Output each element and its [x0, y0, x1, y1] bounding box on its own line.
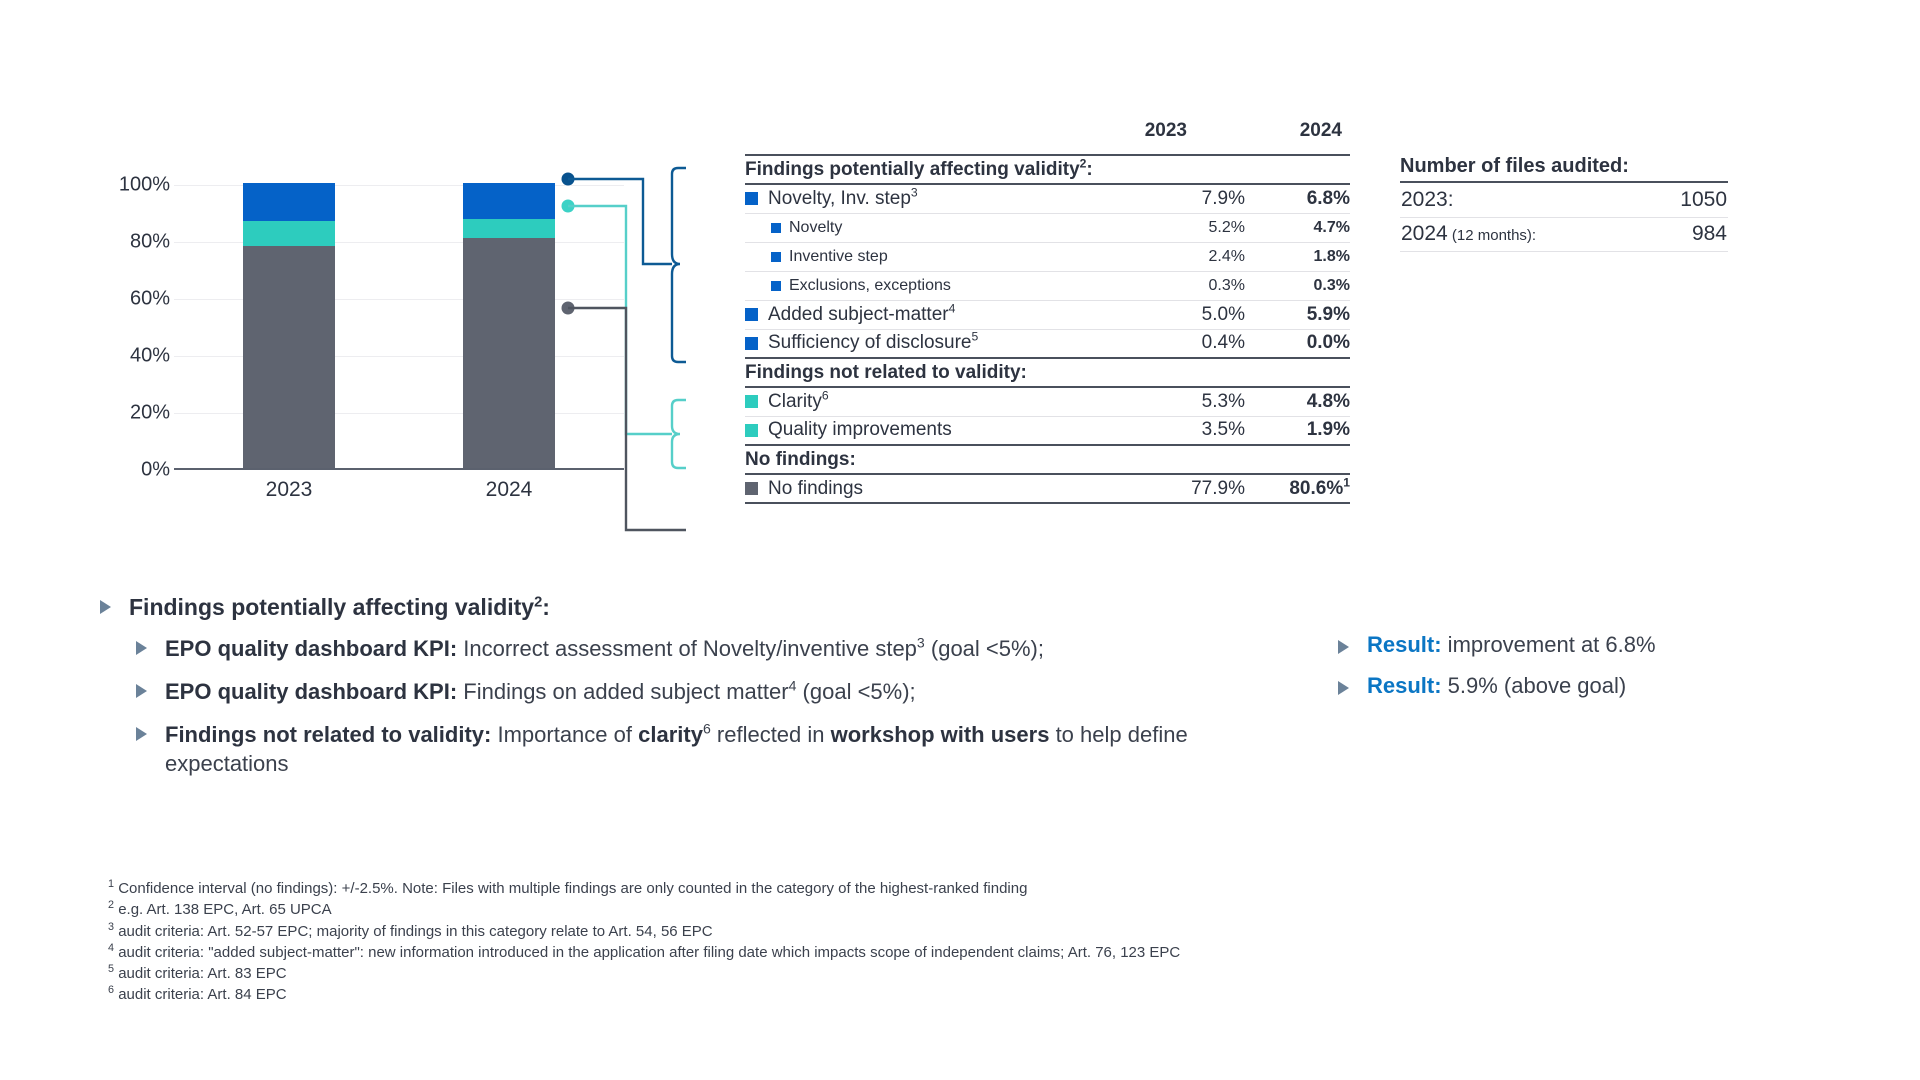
table-section-header: Findings potentially affecting validity2…	[745, 155, 1350, 184]
findings-table: 2023 2024 Findings potentially affecting…	[745, 120, 1350, 504]
footnote-text: Confidence interval (no findings): +/-2.…	[118, 880, 1027, 897]
table-cell-2023: 0.3%	[1140, 271, 1245, 300]
legend-swatch-icon	[745, 395, 758, 408]
bullet-item-lead: EPO quality dashboard KPI:	[165, 679, 457, 704]
gridline	[174, 185, 624, 186]
files-audited-value: 1050	[1564, 183, 1728, 217]
files-audited-title: Number of files audited:	[1400, 155, 1728, 181]
bullet-item: EPO quality dashboard KPI: Incorrect ass…	[136, 634, 1280, 663]
gridline	[174, 242, 624, 243]
legend-swatch-icon	[745, 192, 758, 205]
footnote-text: audit criteria: Art. 52-57 EPC; majority…	[118, 923, 712, 940]
table-row: Added subject-matter45.0%5.9%	[745, 300, 1350, 329]
row-label-text: Clarity6	[768, 391, 829, 413]
bar-segment-2023-findings-not-related-to-validity	[243, 221, 335, 246]
footnote-marker: 5	[108, 963, 114, 975]
table-cell-label: No findings	[745, 474, 1140, 503]
table-cell-2024: 0.0%	[1245, 329, 1350, 358]
row-label: Quality improvements	[745, 419, 1140, 441]
bullet-item-lead: EPO quality dashboard KPI:	[165, 636, 457, 661]
y-axis-labels: 0%20%40%60%80%100%	[92, 185, 170, 470]
connector-line-teal	[568, 206, 672, 434]
footnote-text: audit criteria: "added subject-matter": …	[118, 944, 1180, 961]
table-cell-2023: 5.3%	[1140, 387, 1245, 416]
files-audited-label: 2024 (12 months):	[1400, 217, 1564, 251]
files-audited-row: 2023:1050	[1400, 183, 1728, 217]
legend-swatch-icon	[745, 337, 758, 350]
result-lead: Result:	[1367, 632, 1442, 657]
row-label-text: Novelty	[789, 219, 842, 237]
result-item: Result: 5.9% (above goal)	[1338, 673, 1898, 699]
callout-connectors	[560, 140, 770, 540]
table-cell-2024: 5.9%	[1245, 300, 1350, 329]
table-cell-2023: 7.9%	[1140, 184, 1245, 213]
footnote-marker: 1	[108, 878, 114, 890]
findings-column-headers: 2023 2024	[745, 120, 1350, 154]
table-cell-label: Quality improvements	[745, 416, 1140, 445]
x-axis-labels: 20232024	[174, 478, 624, 512]
table-section-title: Findings potentially affecting validity2…	[745, 155, 1350, 184]
triangle-bullet-icon	[100, 600, 111, 614]
table-cell-2023: 3.5%	[1140, 416, 1245, 445]
row-label: Sufficiency of disclosure5	[745, 332, 1140, 354]
row-label-text: Sufficiency of disclosure5	[768, 332, 978, 354]
legend-swatch-icon	[771, 281, 781, 291]
footnote-text: audit criteria: Art. 84 EPC	[118, 986, 286, 1003]
table-cell-2023: 2.4%	[1140, 242, 1245, 271]
footnote-text: e.g. Art. 138 EPC, Art. 65 UPCA	[118, 901, 331, 918]
bar-segment-2023-findings-potentially-affecting-validity	[243, 183, 335, 221]
chart-plot-area	[174, 185, 624, 470]
y-axis-tick-40%: 40%	[130, 345, 170, 368]
table-cell-label: Sufficiency of disclosure5	[745, 329, 1140, 358]
bullet-list: Findings potentially affecting validity2…	[100, 592, 1280, 792]
bar-segment-2024-findings-potentially-affecting-validity	[463, 183, 555, 219]
connector-brace-blue	[672, 168, 686, 362]
gridline	[174, 413, 624, 414]
y-axis-tick-80%: 80%	[130, 231, 170, 254]
gridline	[174, 356, 624, 357]
y-axis-tick-0%: 0%	[141, 459, 170, 482]
table-row: Novelty, Inv. step37.9%6.8%	[745, 184, 1350, 213]
row-label: Exclusions, exceptions	[745, 277, 1140, 295]
row-label: Added subject-matter4	[745, 304, 1140, 326]
result-item-text: Result: improvement at 6.8%	[1367, 632, 1656, 658]
connector-line-gray	[568, 308, 686, 530]
y-axis-tick-60%: 60%	[130, 288, 170, 311]
table-row: Inventive step2.4%1.8%	[745, 242, 1350, 271]
row-label-text: Exclusions, exceptions	[789, 277, 951, 295]
table-cell-label: Inventive step	[745, 242, 1140, 271]
bullet-item: Findings not related to validity: Import…	[136, 720, 1280, 778]
row-label-text: Inventive step	[789, 248, 888, 266]
files-audited-value: 984	[1564, 217, 1728, 251]
table-cell-label: Novelty	[745, 213, 1140, 242]
y-axis-tick-20%: 20%	[130, 402, 170, 425]
connector-brace-teal	[672, 400, 686, 468]
legend-swatch-icon	[745, 482, 758, 495]
bar-segment-2023-no-findings	[243, 246, 335, 468]
files-audited-table: 2023:10502024 (12 months):984	[1400, 181, 1728, 252]
table-cell-2024: 6.8%	[1245, 184, 1350, 213]
triangle-bullet-icon	[136, 727, 147, 741]
column-header-2023: 2023	[1097, 120, 1187, 142]
row-label: No findings	[745, 478, 1140, 500]
table-cell-label: Exclusions, exceptions	[745, 271, 1140, 300]
row-label: Novelty, Inv. step3	[745, 188, 1140, 210]
footnote: 3 audit criteria: Art. 52-57 EPC; majori…	[108, 921, 1808, 942]
table-row: Clarity65.3%4.8%	[745, 387, 1350, 416]
triangle-bullet-icon	[136, 684, 147, 698]
connector-line-blue	[568, 179, 672, 264]
footnote-marker: 2	[108, 899, 114, 911]
table-row: Novelty5.2%4.7%	[745, 213, 1350, 242]
result-item: Result: improvement at 6.8%	[1338, 632, 1898, 658]
table-section-header: Findings not related to validity:	[745, 358, 1350, 387]
table-section-header: No findings:	[745, 445, 1350, 474]
x-axis-line	[174, 468, 624, 470]
table-cell-label: Clarity6	[745, 387, 1140, 416]
gridline	[174, 299, 624, 300]
files-audited-label: 2023:	[1400, 183, 1564, 217]
slide-canvas: 0%20%40%60%80%100% 20232024 2023 2024 Fi…	[0, 0, 1920, 1080]
table-cell-2023: 5.2%	[1140, 213, 1245, 242]
footnote-marker: 4	[108, 942, 114, 954]
results-list: Result: improvement at 6.8%Result: 5.9% …	[1338, 632, 1898, 714]
footnote: 1 Confidence interval (no findings): +/-…	[108, 878, 1808, 899]
table-cell-2023: 77.9%	[1140, 474, 1245, 503]
triangle-bullet-icon	[136, 641, 147, 655]
triangle-bullet-icon	[1338, 681, 1349, 695]
triangle-bullet-icon	[1338, 640, 1349, 654]
table-cell-2024: 80.6%1	[1245, 474, 1350, 503]
table-cell-2024: 1.8%	[1245, 242, 1350, 271]
x-axis-tick-2023: 2023	[266, 478, 313, 502]
row-label: Inventive step	[745, 248, 1140, 266]
column-header-2024: 2024	[1252, 120, 1342, 142]
footnote: 6 audit criteria: Art. 84 EPC	[108, 984, 1808, 1005]
table-cell-2023: 5.0%	[1140, 300, 1245, 329]
bullet-item-text: Findings not related to validity: Import…	[165, 720, 1280, 778]
footnote-marker: 3	[108, 921, 114, 933]
result-lead: Result:	[1367, 673, 1442, 698]
legend-swatch-icon	[771, 252, 781, 262]
bar-segment-2024-findings-not-related-to-validity	[463, 219, 555, 238]
table-cell-label: Added subject-matter4	[745, 300, 1140, 329]
footnote-marker: 6	[108, 984, 114, 996]
table-bottom-rule	[745, 503, 1350, 504]
footnote-text: audit criteria: Art. 83 EPC	[118, 965, 286, 982]
footnotes: 1 Confidence interval (no findings): +/-…	[108, 878, 1808, 1006]
bullet-item-lead: Findings not related to validity:	[165, 722, 491, 747]
findings-table-body: Findings potentially affecting validity2…	[745, 154, 1350, 504]
table-cell-2024: 4.8%	[1245, 387, 1350, 416]
table-cell-2023: 0.4%	[1140, 329, 1245, 358]
footnote: 4 audit criteria: "added subject-matter"…	[108, 942, 1808, 963]
table-row: Quality improvements3.5%1.9%	[745, 416, 1350, 445]
legend-swatch-icon	[745, 308, 758, 321]
table-row: Exclusions, exceptions0.3%0.3%	[745, 271, 1350, 300]
row-label: Clarity6	[745, 391, 1140, 413]
legend-swatch-icon	[771, 223, 781, 233]
table-cell-2024: 1.9%	[1245, 416, 1350, 445]
bar-2024	[463, 183, 555, 468]
table-section-title: Findings not related to validity:	[745, 358, 1350, 387]
row-label-text: Quality improvements	[768, 419, 952, 441]
bullet-item: EPO quality dashboard KPI: Findings on a…	[136, 677, 1280, 706]
files-audited-row: 2024 (12 months):984	[1400, 217, 1728, 251]
footnote: 5 audit criteria: Art. 83 EPC	[108, 963, 1808, 984]
table-row: Sufficiency of disclosure50.4%0.0%	[745, 329, 1350, 358]
table-cell-2024: 0.3%	[1245, 271, 1350, 300]
row-label-text: Added subject-matter4	[768, 304, 955, 326]
files-audited-panel: Number of files audited: 2023:10502024 (…	[1400, 155, 1728, 252]
result-item-text: Result: 5.9% (above goal)	[1367, 673, 1626, 699]
row-label-text: Novelty, Inv. step3	[768, 188, 918, 210]
bar-2023	[243, 183, 335, 468]
row-label-text: No findings	[768, 478, 863, 500]
bar-segment-2024-no-findings	[463, 238, 555, 468]
bullet-item-text: EPO quality dashboard KPI: Incorrect ass…	[165, 634, 1044, 663]
table-row: No findings77.9%80.6%1	[745, 474, 1350, 503]
y-axis-tick-100%: 100%	[119, 174, 170, 197]
row-label: Novelty	[745, 219, 1140, 237]
table-cell-label: Novelty, Inv. step3	[745, 184, 1140, 213]
legend-swatch-icon	[745, 424, 758, 437]
bullet-item-text: EPO quality dashboard KPI: Findings on a…	[165, 677, 916, 706]
bullet-heading-text: Findings potentially affecting validity2…	[129, 592, 550, 622]
bullet-heading: Findings potentially affecting validity2…	[100, 592, 1280, 622]
x-axis-tick-2024: 2024	[486, 478, 533, 502]
footnote: 2 e.g. Art. 138 EPC, Art. 65 UPCA	[108, 899, 1808, 920]
table-section-title: No findings:	[745, 445, 1350, 474]
table-cell-2024: 4.7%	[1245, 213, 1350, 242]
